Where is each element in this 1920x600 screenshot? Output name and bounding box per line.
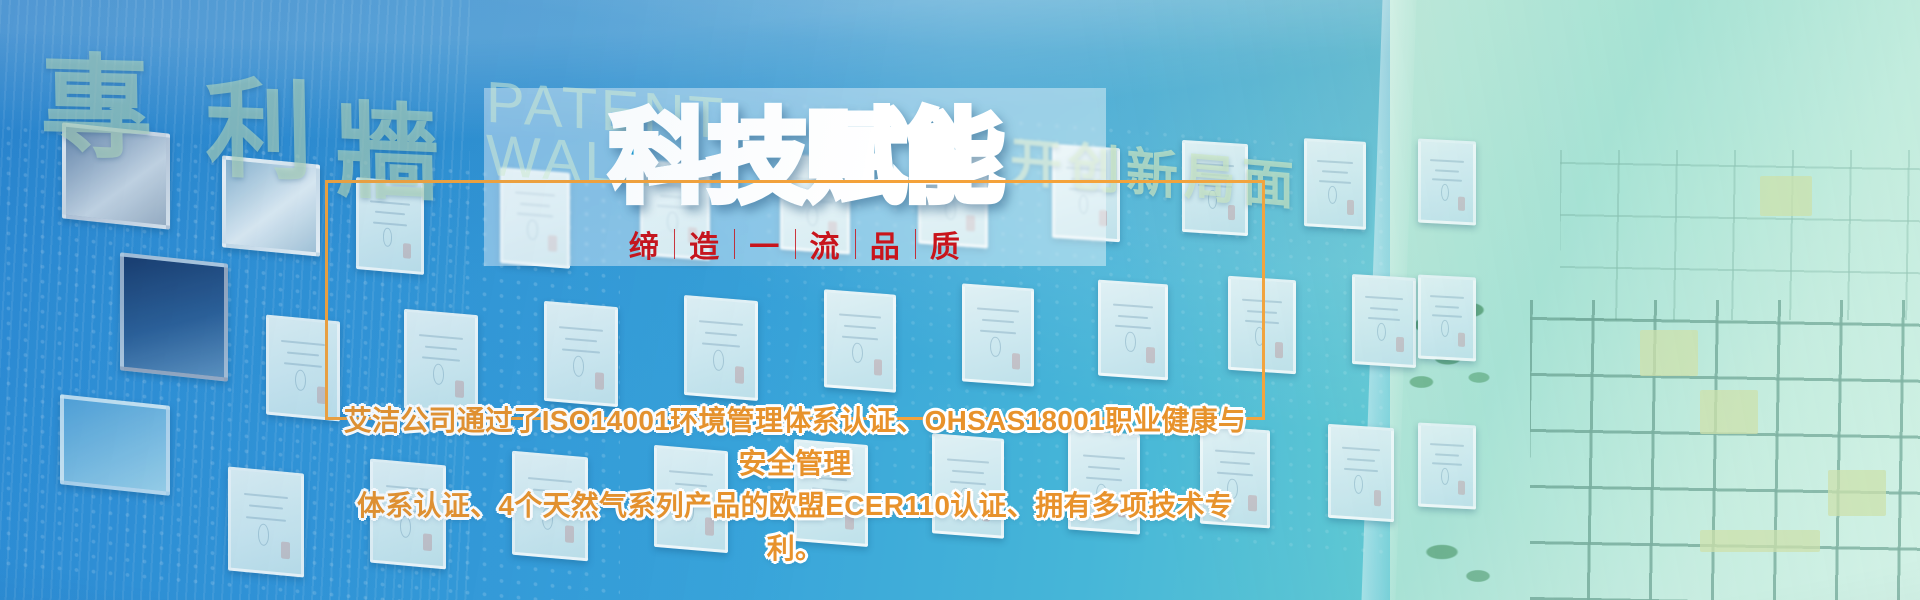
slogan-char: 缔 [615, 222, 674, 266]
shelf-box [1760, 176, 1812, 216]
slogan-char: 品 [856, 222, 915, 266]
certificate-frame [1352, 274, 1416, 368]
slogan-separator [915, 229, 916, 259]
banner-root: 專 利 牆 开创新局面 PATENT WALL 科技赋能 科技赋能 缔 造 一 … [0, 0, 1920, 600]
slogan-separator [855, 229, 856, 259]
office-shelving-lower [1530, 300, 1920, 600]
description-line: 体系认证、4个天然气系列产品的欧盟ECER110认证、拥有多项技术专利。 [330, 485, 1260, 570]
slogan-char: 质 [916, 222, 975, 266]
certificate-frame [1418, 138, 1476, 225]
shelf-box [1828, 470, 1886, 516]
slogan-char: 一 [735, 222, 794, 266]
certificate-frame [1228, 276, 1296, 375]
slogan-separator [674, 229, 675, 259]
certificate-frame [1304, 138, 1366, 230]
certificate-frame [266, 315, 340, 422]
banner-description: 艾洁公司通过了ISO14001环境管理体系认证、OHSAS18001职业健康与安… [330, 400, 1260, 570]
certificate-frame [1418, 274, 1476, 361]
slogan-separator [795, 229, 796, 259]
wall-photo [120, 252, 228, 381]
shelf-box [1700, 530, 1820, 552]
certificate-frame [962, 283, 1034, 386]
slogan-char: 流 [796, 222, 855, 266]
wall-photo [60, 394, 170, 496]
description-line: 艾洁公司通过了ISO14001环境管理体系认证、OHSAS18001职业健康与安… [330, 400, 1260, 485]
certificate-frame [684, 295, 758, 401]
certificate-frame [544, 301, 618, 407]
certificate-frame [1328, 424, 1394, 522]
page-title: 科技赋能 [596, 92, 1016, 204]
slogan-row: 缔 造 一 流 品 质 [484, 222, 1106, 266]
potted-plant-lower [1400, 520, 1520, 600]
certificate-frame [1098, 280, 1168, 381]
certificate-frame [824, 289, 896, 393]
slogan-char: 造 [675, 222, 734, 266]
shelf-box [1640, 330, 1698, 376]
slogan-separator [734, 229, 735, 259]
wall-word-qiang: 牆 [334, 66, 443, 222]
office-shelving-upper [1560, 150, 1920, 320]
shelf-box [1700, 390, 1758, 434]
wall-word-zhuan: 專 [39, 16, 156, 181]
certificate-frame [1418, 422, 1476, 509]
wall-word-li: 利 [204, 42, 317, 202]
certificate-frame [228, 466, 304, 577]
